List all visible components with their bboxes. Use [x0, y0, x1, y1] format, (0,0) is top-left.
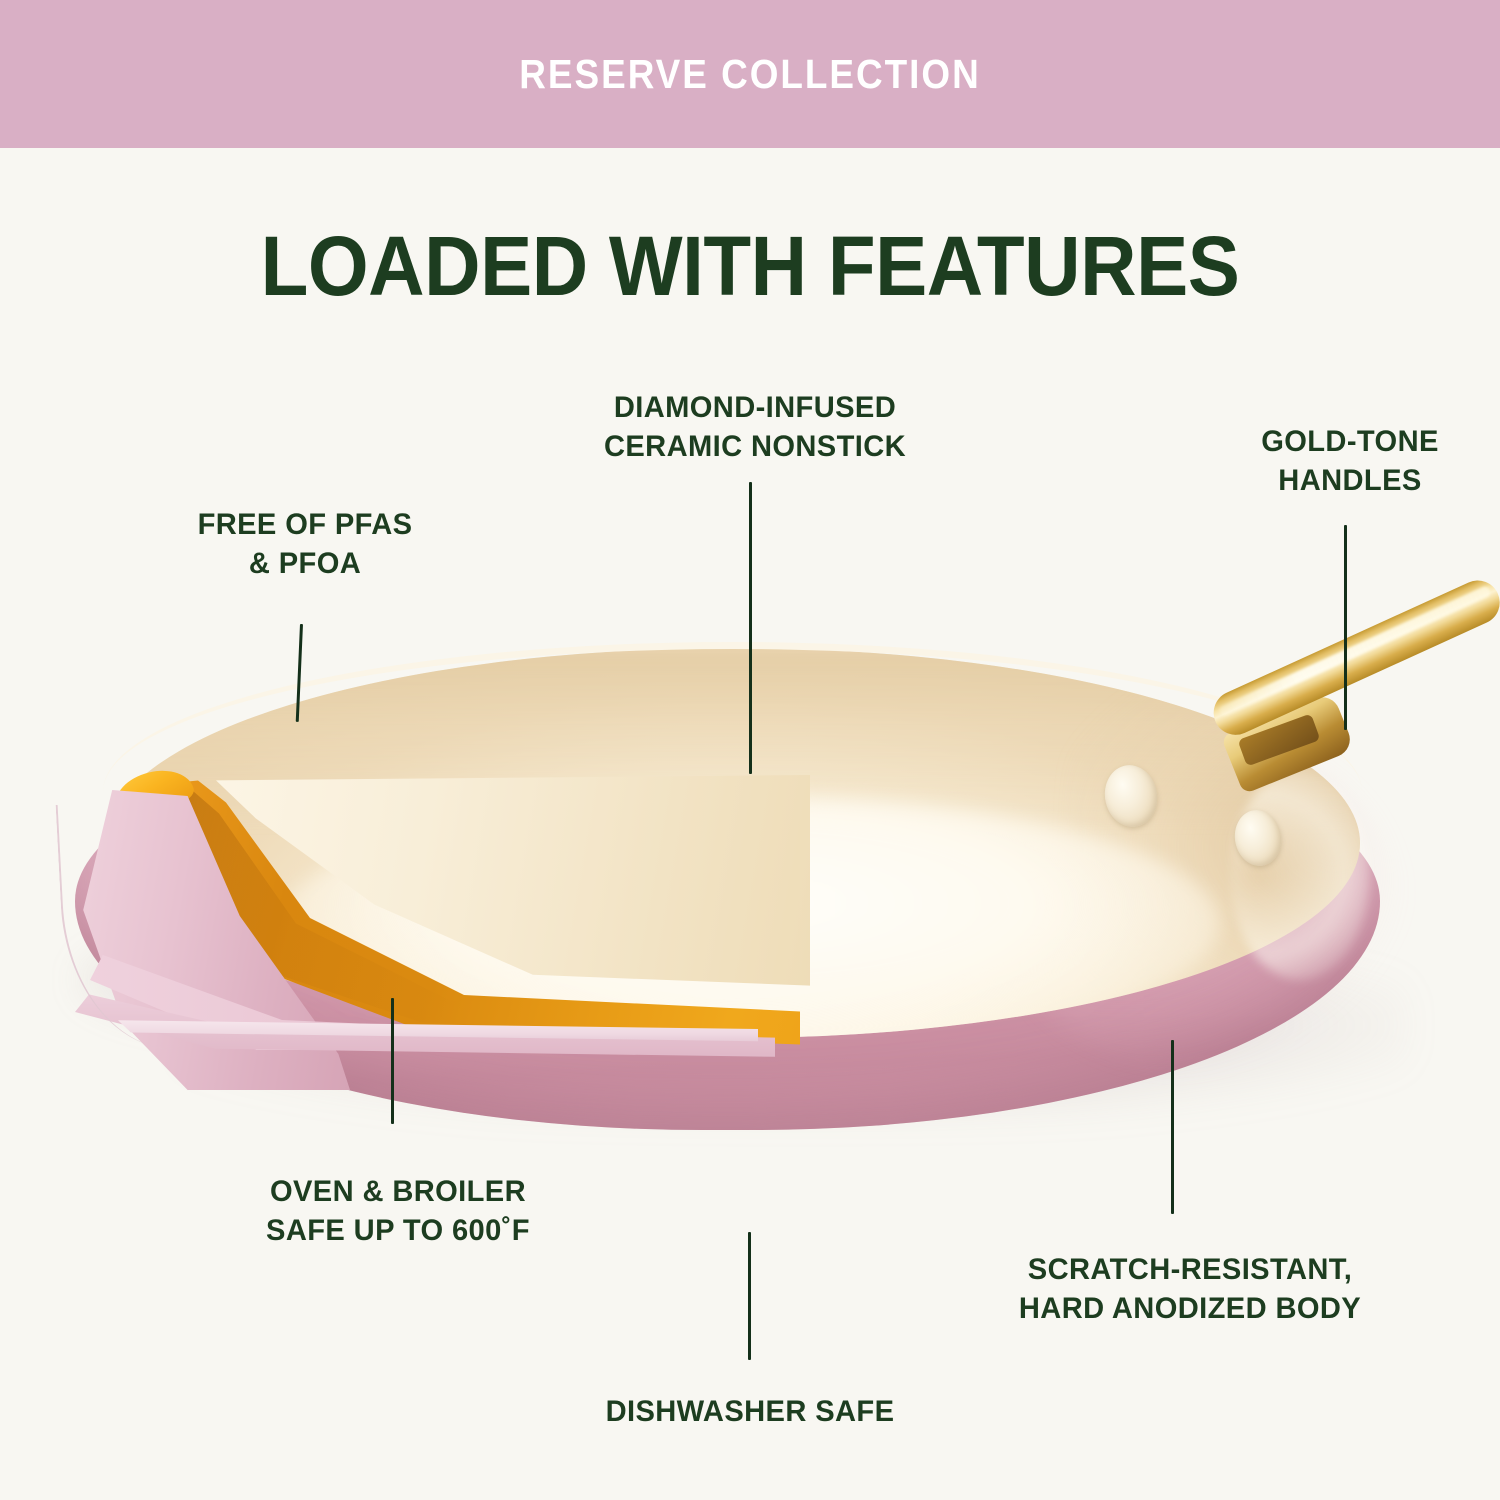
- leader-line-dishwasher: [748, 1232, 751, 1360]
- pan-rim-right-highlight: [1230, 770, 1370, 980]
- leader-line-scratch-body: [1171, 1040, 1174, 1214]
- callout-dishwasher: DISHWASHER SAFE: [546, 1392, 953, 1431]
- infographic-canvas: RESERVE COLLECTION LOADED WITH FEATURES: [0, 0, 1500, 1500]
- leader-line-gold-tone: [1344, 525, 1347, 730]
- callout-scratch-body: SCRATCH-RESISTANT, HARD ANODIZED BODY: [962, 1250, 1418, 1328]
- callout-gold-tone: GOLD-TONE HANDLES: [1195, 422, 1500, 500]
- handle-highlight: [1218, 585, 1492, 718]
- leader-line-diamond-infused: [749, 482, 752, 774]
- callout-free-of-pfas: FREE OF PFAS & PFOA: [111, 505, 499, 583]
- callout-diamond-infused: DIAMOND-INFUSED CERAMIC NONSTICK: [551, 388, 958, 466]
- page-title: LOADED WITH FEATURES: [53, 224, 1448, 308]
- callout-oven-broiler: OVEN & BROILER SAFE UP TO 600˚F: [194, 1172, 601, 1250]
- leader-line-oven-broiler: [391, 998, 394, 1124]
- collection-title: RESERVE COLLECTION: [75, 0, 1425, 148]
